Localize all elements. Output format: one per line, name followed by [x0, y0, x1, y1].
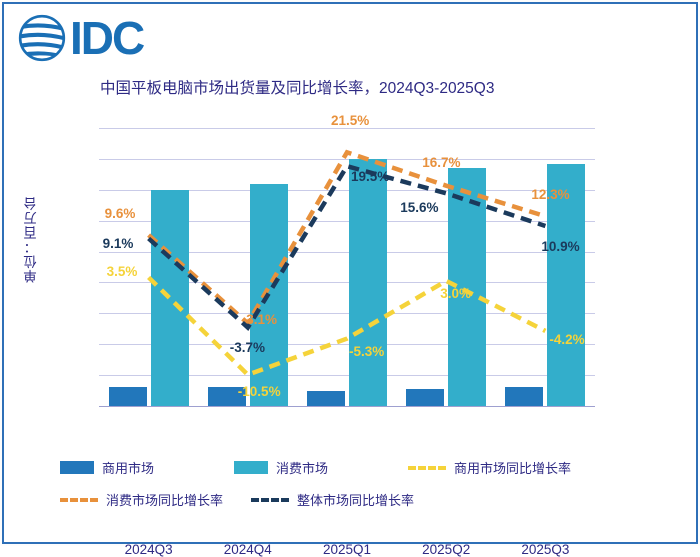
idc-logo: IDC — [16, 12, 143, 64]
x-axis-tick: 2024Q3 — [99, 542, 199, 557]
legend-dash-commercial-growth — [408, 466, 446, 470]
y-axis-label: 单位：百万台 — [22, 196, 42, 283]
legend-label-commercial-growth: 商用市场同比增长率 — [454, 458, 571, 477]
legend-row-1: 商用市场 消费市场 商用市场同比增长率 — [60, 458, 660, 477]
growth-lines — [99, 128, 595, 406]
plot-area: -123456789-15%-10%-5%0%5%10%15%20%25%202… — [99, 128, 595, 406]
legend-item-commercial-bar[interactable]: 商用市场 — [60, 458, 154, 477]
legend-label-consumer-growth: 消费市场同比增长率 — [106, 490, 223, 509]
x-axis-tick: 2025Q3 — [495, 542, 595, 557]
legend-label-commercial: 商用市场 — [102, 458, 154, 477]
x-axis-tick: 2025Q1 — [297, 542, 397, 557]
legend-dash-consumer-growth — [60, 498, 98, 502]
idc-logo-text: IDC — [70, 15, 143, 61]
chart-title: 中国平板电脑市场出货量及同比增长率，2024Q3-2025Q3 — [100, 76, 640, 98]
legend-swatch-consumer — [234, 461, 268, 474]
legend-swatch-commercial — [60, 461, 94, 474]
legend-dash-overall-growth — [251, 498, 289, 502]
x-axis-tick: 2024Q4 — [198, 542, 298, 557]
line-消费市场同比增长率 — [149, 152, 546, 323]
legend-label-overall-growth: 整体市场同比增长率 — [297, 490, 414, 509]
chart-legend: 商用市场 消费市场 商用市场同比增长率 消费市场同比增长率 整体市场同比增长率 — [60, 458, 660, 522]
chart-screenshot: IDC 中国平板电脑市场出货量及同比增长率，2024Q3-2025Q3 单位：百… — [0, 0, 700, 546]
legend-item-consumer-bar[interactable]: 消费市场 — [234, 458, 328, 477]
idc-globe-icon — [16, 12, 68, 64]
gridline — [99, 406, 595, 407]
legend-label-consumer: 消费市场 — [276, 458, 328, 477]
legend-item-commercial-growth[interactable]: 商用市场同比增长率 — [408, 458, 571, 477]
legend-row-2: 消费市场同比增长率 整体市场同比增长率 — [60, 490, 660, 509]
x-axis-tick: 2025Q2 — [396, 542, 496, 557]
legend-item-overall-growth[interactable]: 整体市场同比增长率 — [251, 490, 414, 509]
legend-item-consumer-growth[interactable]: 消费市场同比增长率 — [60, 490, 223, 509]
